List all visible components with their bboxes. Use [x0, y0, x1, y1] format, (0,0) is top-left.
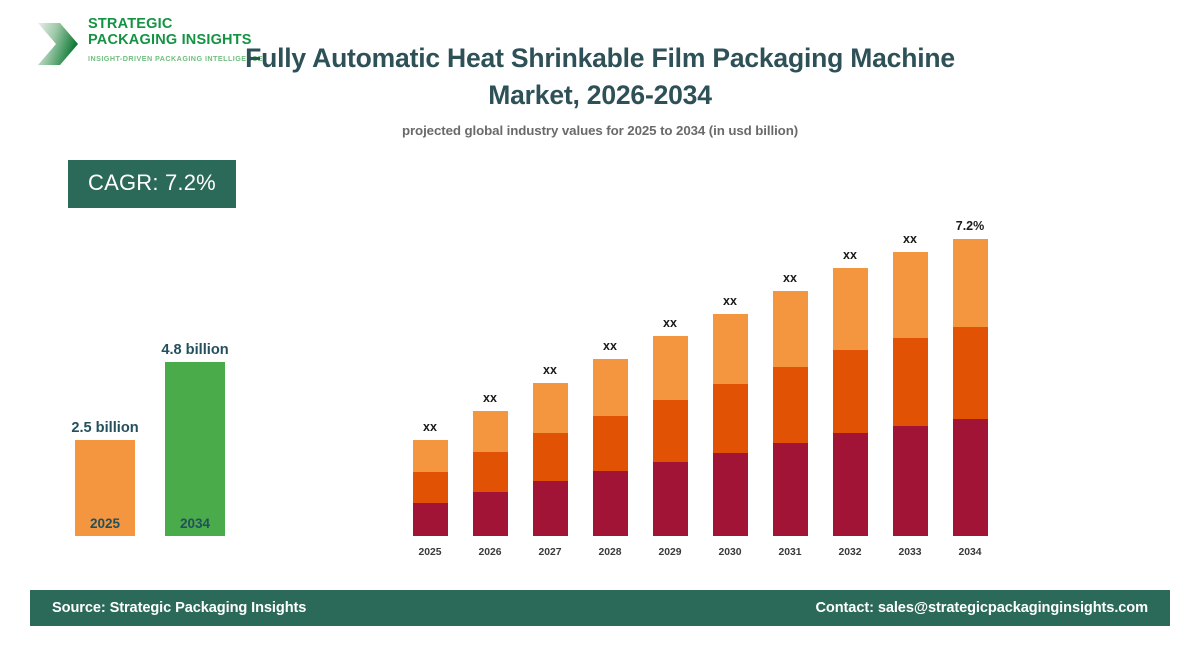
- stacked-bar-segment[interactable]: [533, 383, 568, 433]
- comparison-year-label: 2034: [150, 516, 240, 531]
- stacked-bar-segment[interactable]: [413, 440, 448, 472]
- stacked-bar-segment[interactable]: [653, 336, 688, 400]
- cagr-badge: CAGR: 7.2%: [68, 160, 236, 208]
- stacked-bar[interactable]: [593, 359, 628, 536]
- stacked-bar-year-label: 2027: [520, 547, 580, 558]
- comparison-bar[interactable]: [165, 362, 225, 536]
- stacked-bar-segment[interactable]: [953, 327, 988, 419]
- stacked-bar-value-label: xx: [640, 316, 700, 330]
- comparison-value-label: 2.5 billion: [60, 420, 150, 436]
- stacked-bar-value-label: xx: [880, 232, 940, 246]
- stacked-bar-segment[interactable]: [953, 419, 988, 536]
- logo-tagline: INSIGHT-DRIVEN PACKAGING INTELLIGENCE: [88, 54, 263, 63]
- stacked-bar-year-label: 2029: [640, 547, 700, 558]
- stacked-bar-segment[interactable]: [533, 481, 568, 536]
- stacked-bar-value-label: xx: [520, 363, 580, 377]
- stacked-bar-year-label: 2025: [400, 547, 460, 558]
- stacked-bar-value-label: xx: [400, 420, 460, 434]
- stacked-bar-segment[interactable]: [413, 472, 448, 503]
- stacked-bar-value-label: xx: [460, 391, 520, 405]
- stacked-bar-segment[interactable]: [833, 350, 868, 433]
- stacked-bar-segment[interactable]: [833, 268, 868, 350]
- logo-line-1: STRATEGIC: [88, 17, 263, 33]
- footer-bar: Source: Strategic Packaging Insights Con…: [30, 590, 1170, 626]
- stacked-bar-segment[interactable]: [893, 426, 928, 536]
- stacked-bar-value-label: xx: [820, 248, 880, 262]
- stacked-bar-year-label: 2032: [820, 547, 880, 558]
- comparison-value-label: 4.8 billion: [150, 342, 240, 358]
- stacked-bar-segment[interactable]: [473, 411, 508, 452]
- stacked-bar-segment[interactable]: [413, 503, 448, 536]
- stacked-bar-year-label: 2033: [880, 547, 940, 558]
- title-block: Fully Automatic Heat Shrinkable Film Pac…: [240, 40, 960, 138]
- stacked-bar-chart: xx2025xx2026xx2027xx2028xx2029xx2030xx20…: [400, 190, 1020, 560]
- stacked-bar[interactable]: [953, 239, 988, 536]
- stacked-bar-segment[interactable]: [653, 400, 688, 462]
- stacked-bar-segment[interactable]: [533, 433, 568, 481]
- page-subtitle: projected global industry values for 202…: [240, 123, 960, 138]
- stacked-bar-value-label: xx: [700, 294, 760, 308]
- stacked-bar[interactable]: [773, 291, 808, 536]
- stacked-bar-value-label: 7.2%: [940, 219, 1000, 233]
- stacked-bar-segment[interactable]: [593, 416, 628, 471]
- footer-source-text: Source: Strategic Packaging Insights: [52, 590, 306, 626]
- stacked-bar-segment[interactable]: [593, 471, 628, 536]
- comparison-column: 4.8 billion 2034: [150, 362, 240, 536]
- stacked-bar[interactable]: [413, 440, 448, 536]
- stacked-bar-segment[interactable]: [593, 359, 628, 416]
- brand-logo: STRATEGIC PACKAGING INSIGHTS INSIGHT-DRI…: [30, 16, 260, 76]
- comparison-bar-chart: 2.5 billion 2025 4.8 billion 2034: [60, 300, 280, 570]
- chevron-right-logo-mark: [32, 18, 84, 70]
- stacked-bar-segment[interactable]: [773, 291, 808, 367]
- stacked-bar-segment[interactable]: [893, 252, 928, 338]
- stacked-bar[interactable]: [533, 383, 568, 536]
- stacked-bar-segment[interactable]: [773, 443, 808, 536]
- stacked-bar[interactable]: [713, 314, 748, 536]
- stacked-bar-year-label: 2026: [460, 547, 520, 558]
- stacked-bar-year-label: 2034: [940, 547, 1000, 558]
- stacked-bar-segment[interactable]: [473, 452, 508, 492]
- stacked-bar-value-label: xx: [580, 339, 640, 353]
- stacked-bar-segment[interactable]: [893, 338, 928, 426]
- stacked-bar-value-label: xx: [760, 271, 820, 285]
- stacked-bar-segment[interactable]: [713, 314, 748, 384]
- stacked-bar[interactable]: [473, 411, 508, 536]
- stacked-bar-segment[interactable]: [713, 453, 748, 536]
- page-title: Fully Automatic Heat Shrinkable Film Pac…: [240, 40, 960, 114]
- stacked-bar-segment[interactable]: [833, 433, 868, 536]
- stacked-bar-segment[interactable]: [653, 462, 688, 536]
- stacked-bar-segment[interactable]: [953, 239, 988, 327]
- logo-line-2: PACKAGING INSIGHTS: [88, 33, 263, 49]
- comparison-column: 2.5 billion 2025: [60, 440, 150, 536]
- stacked-bar-segment[interactable]: [773, 367, 808, 443]
- stacked-bar[interactable]: [893, 252, 928, 536]
- footer-contact-text: Contact: sales@strategicpackaginginsight…: [815, 590, 1148, 626]
- comparison-year-label: 2025: [60, 516, 150, 531]
- stacked-bar-segment[interactable]: [473, 492, 508, 536]
- stacked-bar-year-label: 2030: [700, 547, 760, 558]
- stacked-bar-segment[interactable]: [713, 384, 748, 453]
- stacked-bar-year-label: 2031: [760, 547, 820, 558]
- stacked-bar[interactable]: [653, 336, 688, 536]
- stacked-bar[interactable]: [833, 268, 868, 536]
- logo-wordmark: STRATEGIC PACKAGING INSIGHTS INSIGHT-DRI…: [88, 17, 263, 63]
- stacked-bar-year-label: 2028: [580, 547, 640, 558]
